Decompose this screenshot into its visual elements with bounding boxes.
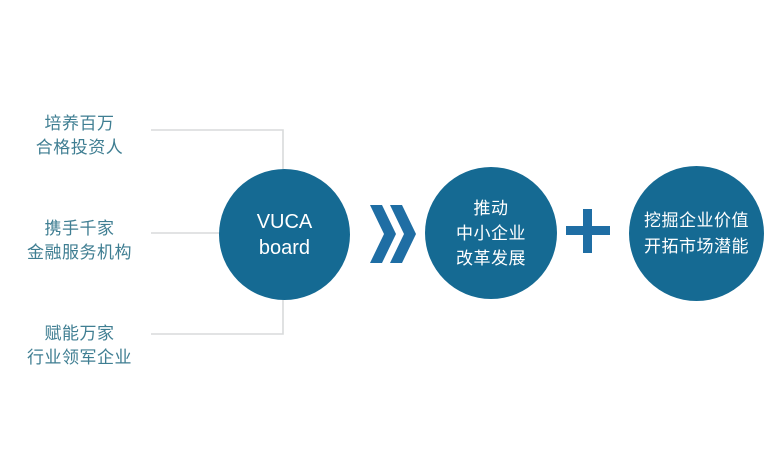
- input-label-2-line-1: 赋能万家: [12, 322, 147, 346]
- node-vuca-board-line-1: VUCA: [257, 209, 313, 235]
- input-label-0-line-2: 合格投资人: [12, 136, 147, 160]
- input-label-2: 赋能万家 行业领军企业: [12, 322, 147, 370]
- input-label-1-line-1: 携手千家: [12, 217, 147, 241]
- input-label-2-line-2: 行业领军企业: [12, 346, 147, 370]
- input-label-0-line-1: 培养百万: [12, 112, 147, 136]
- diagram-canvas: 培养百万 合格投资人 携手千家 金融服务机构 赋能万家 行业领军企业 VUCA …: [0, 0, 777, 476]
- input-label-1-line-2: 金融服务机构: [12, 241, 147, 265]
- node-outcome-1-line-1: 推动: [456, 196, 526, 221]
- input-label-1: 携手千家 金融服务机构: [12, 217, 147, 265]
- node-outcome-2-line-1: 挖掘企业价值: [644, 208, 749, 234]
- node-outcome-2-line-2: 开拓市场潜能: [644, 234, 749, 260]
- node-vuca-board-line-2: board: [257, 235, 313, 261]
- plus-icon: [566, 206, 610, 256]
- node-outcome-1-line-2: 中小企业: [456, 221, 526, 246]
- node-vuca-board: VUCA board: [219, 169, 350, 300]
- node-outcome-2-text: 挖掘企业价值 开拓市场潜能: [644, 208, 749, 260]
- node-outcome-2: 挖掘企业价值 开拓市场潜能: [629, 166, 764, 301]
- double-chevron-right-icon: [368, 203, 416, 265]
- node-outcome-1-text: 推动 中小企业 改革发展: [456, 196, 526, 271]
- node-outcome-1-line-3: 改革发展: [456, 246, 526, 271]
- node-outcome-1: 推动 中小企业 改革发展: [425, 167, 557, 299]
- input-label-0: 培养百万 合格投资人: [12, 112, 147, 160]
- connector-line-input-2: [151, 296, 283, 334]
- connector-line-input-0: [151, 130, 283, 172]
- node-vuca-board-text: VUCA board: [257, 209, 313, 261]
